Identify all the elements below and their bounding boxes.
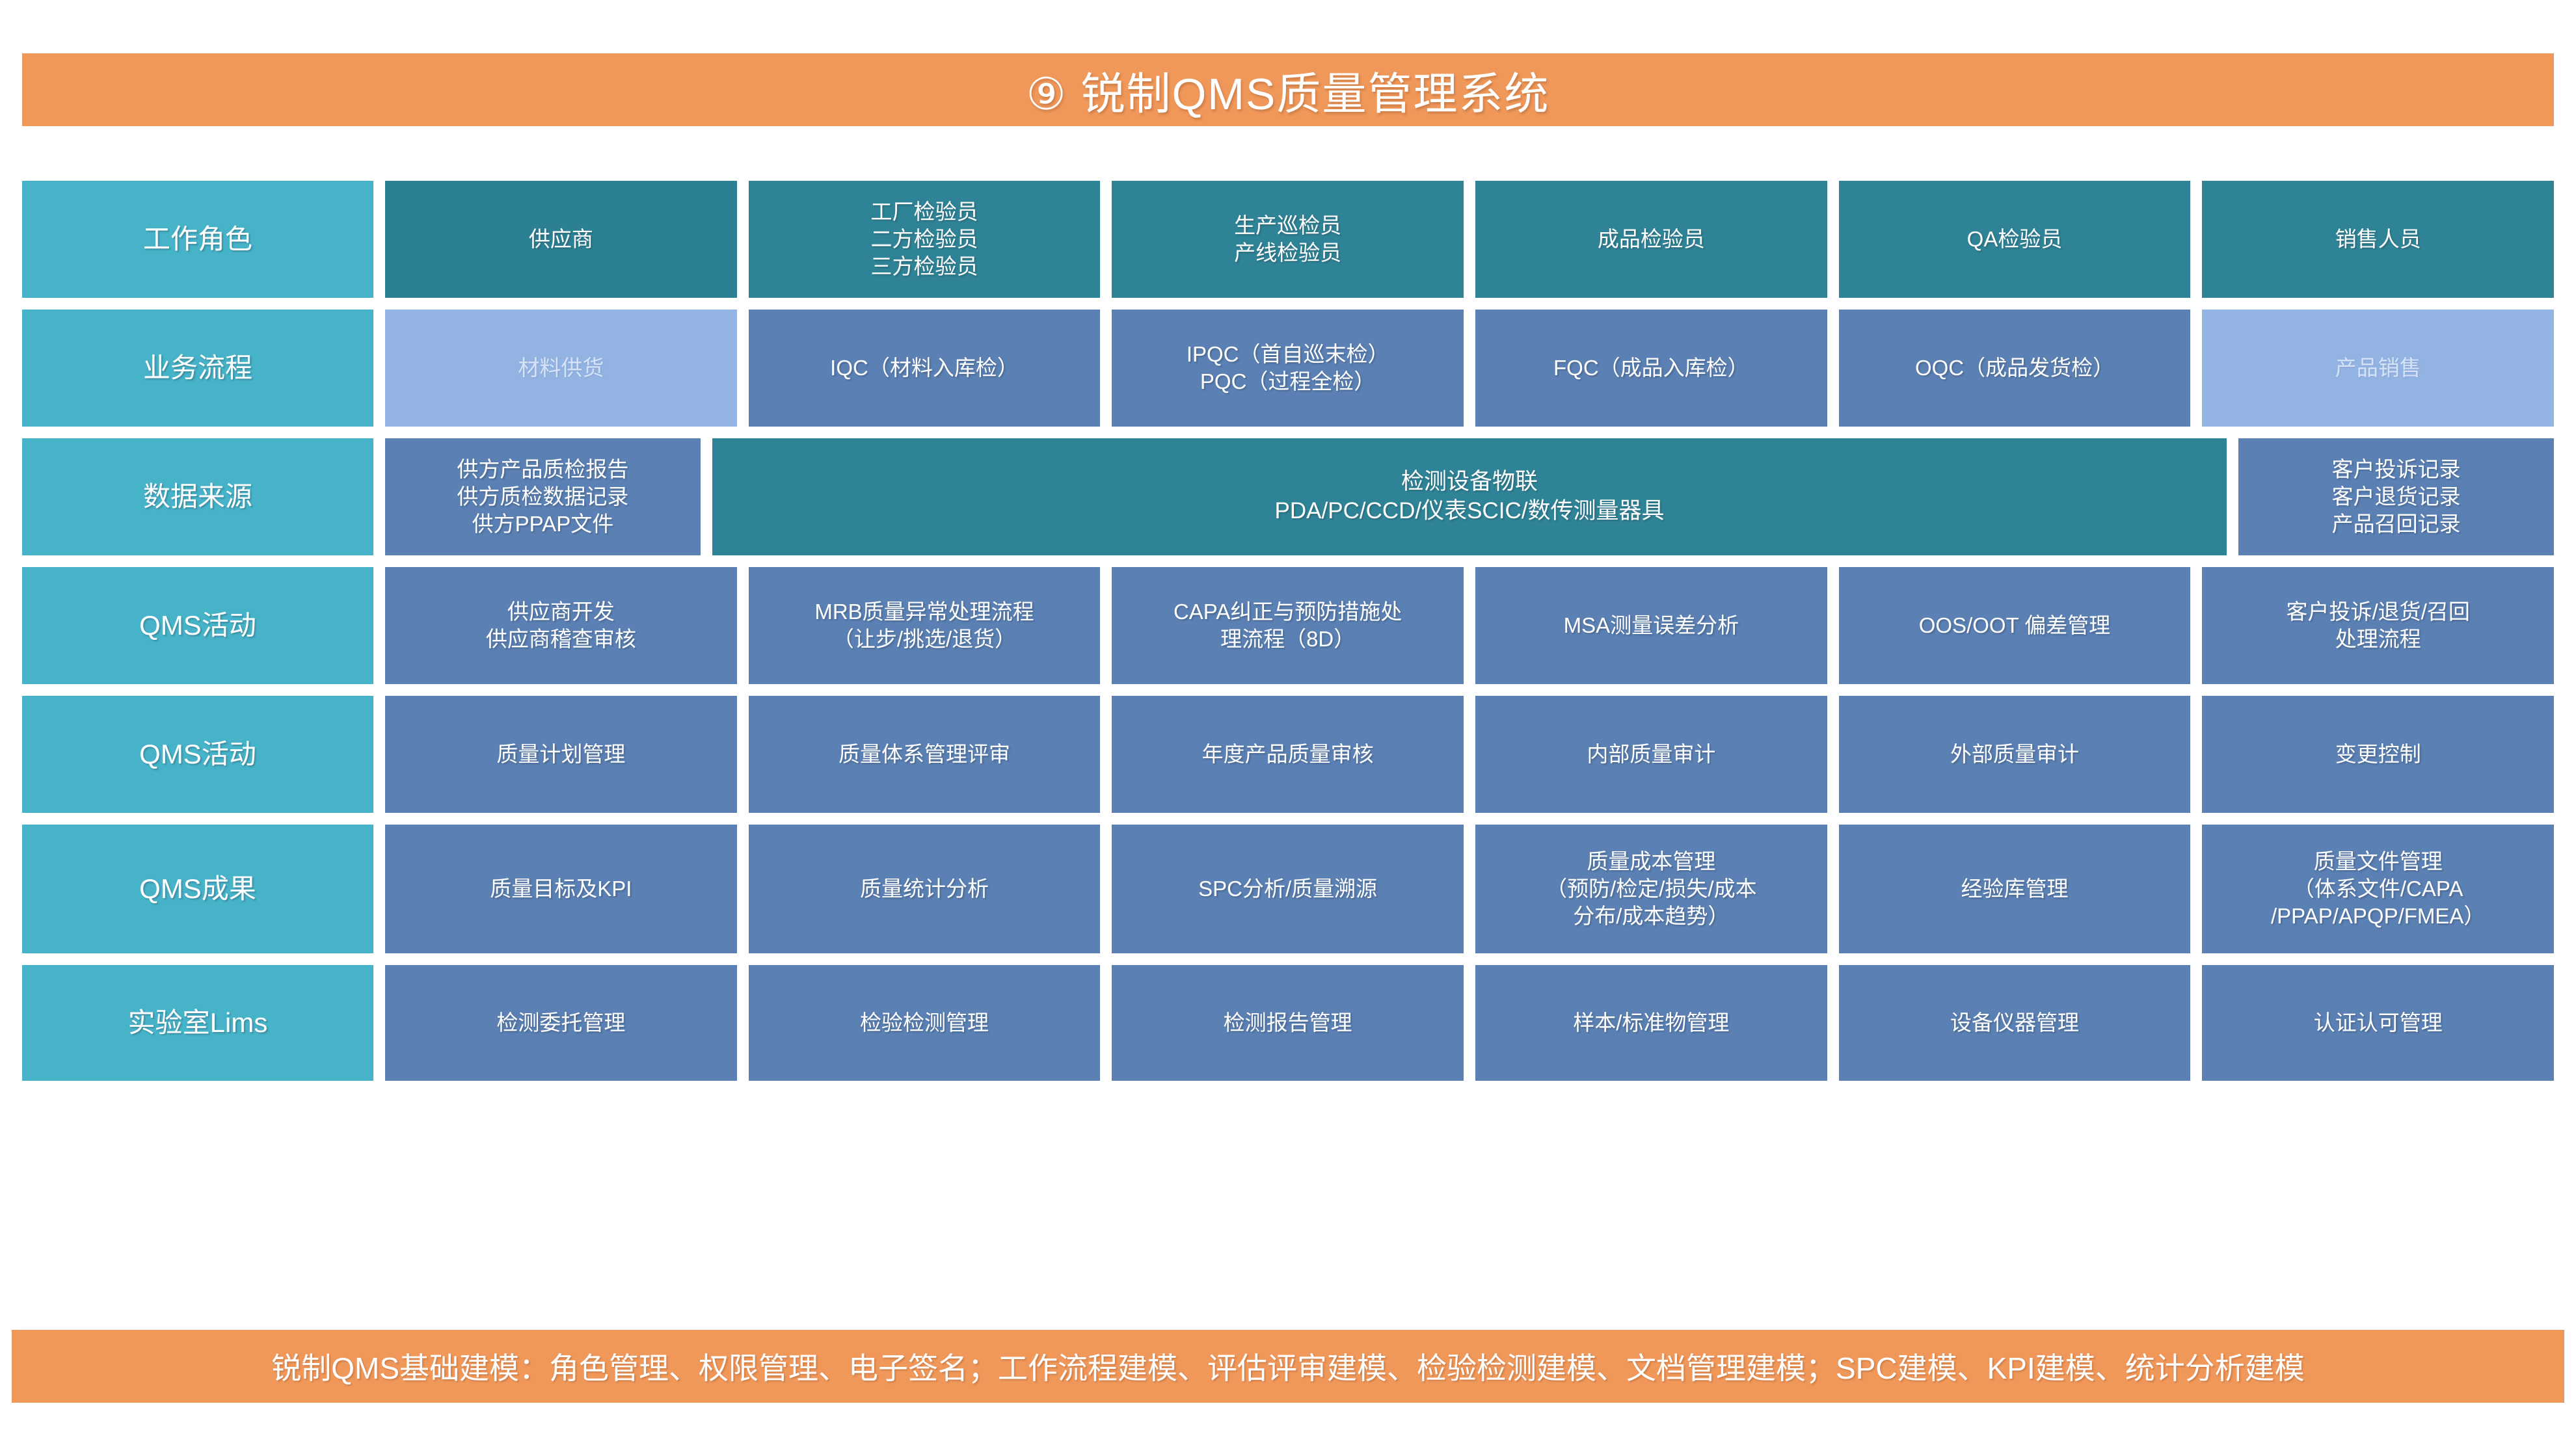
- row-label-text: QMS成果: [30, 871, 366, 907]
- matrix-cell-line: 二方检验员: [757, 226, 1093, 253]
- matrix-cell[interactable]: OOS/OOT 偏差管理: [1839, 567, 2191, 684]
- matrix-cell-line: 客户投诉记录: [2246, 456, 2546, 483]
- matrix-cell[interactable]: 质量目标及KPI: [385, 825, 737, 953]
- matrix-cell-text: 生产巡检员产线检验员: [1120, 212, 1456, 267]
- qms-overview-poster: ⑨ 锐制QMS质量管理系统 工作角色供应商工厂检验员二方检验员三方检验员生产巡检…: [0, 0, 2576, 1443]
- page-title: ⑨ 锐制QMS质量管理系统: [1026, 58, 1550, 122]
- matrix-cell[interactable]: 供应商开发供应商稽查审核: [385, 567, 737, 684]
- matrix-cell-text: 供应商开发供应商稽查审核: [393, 598, 729, 653]
- matrix-cell-line: 销售人员: [2210, 226, 2546, 253]
- matrix-cell-text: 经验库管理: [1847, 875, 2183, 903]
- matrix-cell-text: 变更控制: [2210, 741, 2546, 768]
- matrix-cell-line: 检验检测管理: [757, 1009, 1093, 1037]
- matrix-cell-text: OOS/OOT 偏差管理: [1847, 612, 2183, 639]
- matrix-cell[interactable]: 变更控制: [2202, 696, 2554, 813]
- row-label-text: QMS活动: [30, 737, 366, 772]
- row-label-qms-activity-1: QMS活动: [22, 567, 373, 684]
- matrix-cell-line: CAPA纠正与预防措施处: [1120, 598, 1456, 626]
- matrix-cell-text: 检验检测管理: [757, 1009, 1093, 1037]
- matrix-cell-line: 工厂检验员: [757, 198, 1093, 226]
- matrix-cell-line: （体系文件/CAPA: [2210, 875, 2546, 903]
- matrix-cell[interactable]: 产品销售: [2202, 310, 2554, 427]
- matrix-cell-line: PQC（过程全检）: [1120, 368, 1456, 395]
- page-title-bar: ⑨ 锐制QMS质量管理系统: [22, 53, 2554, 126]
- matrix-row-qms-activity-2: QMS活动质量计划管理质量体系管理评审年度产品质量审核内部质量审计外部质量审计变…: [0, 696, 2576, 813]
- matrix-cell-line: 三方检验员: [757, 253, 1093, 280]
- matrix-cell[interactable]: 检测报告管理: [1112, 965, 1464, 1081]
- matrix-cell[interactable]: 内部质量审计: [1475, 696, 1827, 813]
- matrix-cell-line: 供应商稽查审核: [393, 626, 729, 653]
- matrix-cell[interactable]: SPC分析/质量溯源: [1112, 825, 1464, 953]
- matrix-cell-line: 供方PPAP文件: [393, 510, 693, 538]
- matrix-cell[interactable]: MSA测量误差分析: [1475, 567, 1827, 684]
- matrix-cell[interactable]: 检验检测管理: [749, 965, 1101, 1081]
- matrix-row-business-process: 业务流程材料供货IQC（材料入库检）IPQC（首自巡末检）PQC（过程全检）FQ…: [0, 310, 2576, 427]
- matrix-cell-line: 认证认可管理: [2210, 1009, 2546, 1037]
- matrix-cell[interactable]: IQC（材料入库检）: [749, 310, 1101, 427]
- matrix-cell-line: 成品检验员: [1483, 226, 1819, 253]
- matrix-row-data-source: 数据来源供方产品质检报告供方质检数据记录供方PPAP文件检测设备物联PDA/PC…: [0, 438, 2576, 555]
- matrix-cell[interactable]: 质量文件管理（体系文件/CAPA/PPAP/APQP/FMEA）: [2202, 825, 2554, 953]
- matrix-cell-line: 质量文件管理: [2210, 848, 2546, 875]
- matrix-cell-line: 样本/标准物管理: [1483, 1009, 1819, 1037]
- matrix-row-lab-lims: 实验室Lims检测委托管理检验检测管理检测报告管理样本/标准物管理设备仪器管理认…: [0, 965, 2576, 1081]
- matrix-cell-text: 供应商: [393, 226, 729, 253]
- matrix-cell[interactable]: 客户投诉记录客户退货记录产品召回记录: [2238, 438, 2554, 555]
- matrix-cell[interactable]: 质量统计分析: [749, 825, 1101, 953]
- matrix-cell[interactable]: 质量体系管理评审: [749, 696, 1101, 813]
- matrix-cell-line: 质量成本管理: [1483, 848, 1819, 875]
- footer-note: 锐制QMS基础建模：角色管理、权限管理、电子签名；工作流程建模、评估评审建模、检…: [271, 1345, 2305, 1388]
- capability-matrix: 工作角色供应商工厂检验员二方检验员三方检验员生产巡检员产线检验员成品检验员QA检…: [0, 181, 2576, 1092]
- matrix-cell-text: 样本/标准物管理: [1483, 1009, 1819, 1037]
- matrix-cell-text: 设备仪器管理: [1847, 1009, 2183, 1037]
- row-label-qms-results: QMS成果: [22, 825, 373, 953]
- matrix-cell-line: 供方质检数据记录: [393, 483, 693, 510]
- row-label-text: 工作角色: [30, 222, 366, 257]
- matrix-cell-text: IQC（材料入库检）: [757, 354, 1093, 382]
- matrix-cell-line: 质量体系管理评审: [757, 741, 1093, 768]
- row-label-work-role: 工作角色: [22, 181, 373, 298]
- matrix-cell[interactable]: 供方产品质检报告供方质检数据记录供方PPAP文件: [385, 438, 701, 555]
- matrix-cell-text: 质量体系管理评审: [757, 741, 1093, 768]
- matrix-cell-text: 检测设备物联PDA/PC/CCD/仪表SCIC/数传测量器具: [720, 468, 2219, 526]
- matrix-cell[interactable]: CAPA纠正与预防措施处理流程（8D）: [1112, 567, 1464, 684]
- matrix-cell-line: 质量统计分析: [757, 875, 1093, 903]
- matrix-cell-text: MSA测量误差分析: [1483, 612, 1819, 639]
- matrix-cell-text: SPC分析/质量溯源: [1120, 875, 1456, 903]
- matrix-cell-text: 质量计划管理: [393, 741, 729, 768]
- matrix-cell-line: 产品销售: [2210, 354, 2546, 382]
- matrix-cell-line: 质量计划管理: [393, 741, 729, 768]
- matrix-cell-text: 成品检验员: [1483, 226, 1819, 253]
- matrix-cell-line: 内部质量审计: [1483, 741, 1819, 768]
- matrix-cell-line: 分布/成本趋势）: [1483, 903, 1819, 930]
- matrix-cell-line: 处理流程: [2210, 626, 2546, 653]
- matrix-cell-line: FQC（成品入库检）: [1483, 354, 1819, 382]
- matrix-cell-text: 质量文件管理（体系文件/CAPA/PPAP/APQP/FMEA）: [2210, 848, 2546, 931]
- matrix-cell-text: 年度产品质量审核: [1120, 741, 1456, 768]
- matrix-cell-text: 销售人员: [2210, 226, 2546, 253]
- matrix-cell[interactable]: 材料供货: [385, 310, 737, 427]
- matrix-cell-line: 供应商开发: [393, 598, 729, 626]
- matrix-cell[interactable]: 工厂检验员二方检验员三方检验员: [749, 181, 1101, 298]
- matrix-row-qms-results: QMS成果质量目标及KPI质量统计分析SPC分析/质量溯源质量成本管理（预防/检…: [0, 825, 2576, 953]
- matrix-cell-text: 内部质量审计: [1483, 741, 1819, 768]
- matrix-cell-line: OQC（成品发货检）: [1847, 354, 2183, 382]
- matrix-cell-line: 材料供货: [393, 354, 729, 382]
- matrix-cell-line: 质量目标及KPI: [393, 875, 729, 903]
- matrix-cell-line: 理流程（8D）: [1120, 626, 1456, 653]
- matrix-cell[interactable]: FQC（成品入库检）: [1475, 310, 1827, 427]
- matrix-cell[interactable]: OQC（成品发货检）: [1839, 310, 2191, 427]
- matrix-cell-line: OOS/OOT 偏差管理: [1847, 612, 2183, 639]
- matrix-cell-text: 质量目标及KPI: [393, 875, 729, 903]
- matrix-cell[interactable]: IPQC（首自巡末检）PQC（过程全检）: [1112, 310, 1464, 427]
- matrix-cell-text: 产品销售: [2210, 354, 2546, 382]
- matrix-row-qms-activity-1: QMS活动供应商开发供应商稽查审核MRB质量异常处理流程（让步/挑选/退货）CA…: [0, 567, 2576, 684]
- matrix-cell-line: 产品召回记录: [2246, 510, 2546, 538]
- matrix-cell[interactable]: 质量成本管理（预防/检定/损失/成本分布/成本趋势）: [1475, 825, 1827, 953]
- matrix-cell-line: 检测委托管理: [393, 1009, 729, 1037]
- matrix-cell[interactable]: 样本/标准物管理: [1475, 965, 1827, 1081]
- matrix-row-work-role: 工作角色供应商工厂检验员二方检验员三方检验员生产巡检员产线检验员成品检验员QA检…: [0, 181, 2576, 298]
- matrix-cell-line: MRB质量异常处理流程: [757, 598, 1093, 626]
- row-label-qms-activity-2: QMS活动: [22, 696, 373, 813]
- matrix-cell[interactable]: MRB质量异常处理流程（让步/挑选/退货）: [749, 567, 1101, 684]
- matrix-cell[interactable]: 设备仪器管理: [1839, 965, 2191, 1081]
- matrix-cell-line: 产线检验员: [1120, 239, 1456, 267]
- matrix-cell-text: MRB质量异常处理流程（让步/挑选/退货）: [757, 598, 1093, 653]
- matrix-cell-line: PDA/PC/CCD/仪表SCIC/数传测量器具: [720, 497, 2219, 526]
- matrix-cell-line: 检测设备物联: [720, 468, 2219, 497]
- matrix-cell-line: IPQC（首自巡末检）: [1120, 341, 1456, 368]
- matrix-cell[interactable]: 供应商: [385, 181, 737, 298]
- matrix-cell-text: 材料供货: [393, 354, 729, 382]
- row-label-text: 数据来源: [30, 479, 366, 514]
- matrix-cell[interactable]: 质量计划管理: [385, 696, 737, 813]
- matrix-cell-text: 外部质量审计: [1847, 741, 2183, 768]
- matrix-cell[interactable]: 成品检验员: [1475, 181, 1827, 298]
- matrix-cell-text: 工厂检验员二方检验员三方检验员: [757, 198, 1093, 281]
- matrix-cell-text: 认证认可管理: [2210, 1009, 2546, 1037]
- row-label-text: 实验室Lims: [30, 1005, 366, 1040]
- matrix-cell[interactable]: 经验库管理: [1839, 825, 2191, 953]
- matrix-cell-text: 质量统计分析: [757, 875, 1093, 903]
- matrix-cell-line: SPC分析/质量溯源: [1120, 875, 1456, 903]
- matrix-cell[interactable]: 年度产品质量审核: [1112, 696, 1464, 813]
- matrix-cell[interactable]: 销售人员: [2202, 181, 2554, 298]
- matrix-cell[interactable]: 客户投诉/退货/召回处理流程: [2202, 567, 2554, 684]
- matrix-cell-text: 客户投诉记录客户退货记录产品召回记录: [2246, 456, 2546, 538]
- matrix-cell-line: IQC（材料入库检）: [757, 354, 1093, 382]
- footer-bar: 锐制QMS基础建模：角色管理、权限管理、电子签名；工作流程建模、评估评审建模、检…: [12, 1330, 2564, 1403]
- row-label-business-process: 业务流程: [22, 310, 373, 427]
- matrix-cell-text: 客户投诉/退货/召回处理流程: [2210, 598, 2546, 653]
- matrix-cell-text: 检测报告管理: [1120, 1009, 1456, 1037]
- matrix-cell-line: 检测报告管理: [1120, 1009, 1456, 1037]
- matrix-cell[interactable]: 生产巡检员产线检验员: [1112, 181, 1464, 298]
- row-label-text: 业务流程: [30, 351, 366, 386]
- matrix-cell[interactable]: 检测委托管理: [385, 965, 737, 1081]
- matrix-cell-line: 供方产品质检报告: [393, 456, 693, 483]
- matrix-cell-line: 经验库管理: [1847, 875, 2183, 903]
- matrix-cell-line: 供应商: [393, 226, 729, 253]
- matrix-cell[interactable]: 外部质量审计: [1839, 696, 2191, 813]
- matrix-cell-text: IPQC（首自巡末检）PQC（过程全检）: [1120, 341, 1456, 395]
- row-label-text: QMS活动: [30, 608, 366, 643]
- matrix-cell-line: 年度产品质量审核: [1120, 741, 1456, 768]
- row-label-data-source: 数据来源: [22, 438, 373, 555]
- matrix-cell-line: /PPAP/APQP/FMEA）: [2210, 903, 2546, 930]
- matrix-cell-line: QA检验员: [1847, 226, 2183, 253]
- matrix-cell-line: 外部质量审计: [1847, 741, 2183, 768]
- matrix-cell-text: FQC（成品入库检）: [1483, 354, 1819, 382]
- matrix-cell-line: （预防/检定/损失/成本: [1483, 875, 1819, 903]
- matrix-cell-line: 客户投诉/退货/召回: [2210, 598, 2546, 626]
- matrix-cell[interactable]: 检测设备物联PDA/PC/CCD/仪表SCIC/数传测量器具: [712, 438, 2227, 555]
- matrix-cell-text: 检测委托管理: [393, 1009, 729, 1037]
- matrix-cell-line: MSA测量误差分析: [1483, 612, 1819, 639]
- matrix-cell-text: OQC（成品发货检）: [1847, 354, 2183, 382]
- matrix-cell-line: 客户退货记录: [2246, 483, 2546, 510]
- matrix-cell-text: 质量成本管理（预防/检定/损失/成本分布/成本趋势）: [1483, 848, 1819, 931]
- matrix-cell-text: CAPA纠正与预防措施处理流程（8D）: [1120, 598, 1456, 653]
- matrix-cell-text: 供方产品质检报告供方质检数据记录供方PPAP文件: [393, 456, 693, 538]
- matrix-cell-line: 设备仪器管理: [1847, 1009, 2183, 1037]
- matrix-cell-line: （让步/挑选/退货）: [757, 626, 1093, 653]
- matrix-cell[interactable]: 认证认可管理: [2202, 965, 2554, 1081]
- matrix-cell-line: 变更控制: [2210, 741, 2546, 768]
- matrix-cell-text: QA检验员: [1847, 226, 2183, 253]
- matrix-cell-line: 生产巡检员: [1120, 212, 1456, 239]
- row-label-lab-lims: 实验室Lims: [22, 965, 373, 1081]
- matrix-cell[interactable]: QA检验员: [1839, 181, 2191, 298]
